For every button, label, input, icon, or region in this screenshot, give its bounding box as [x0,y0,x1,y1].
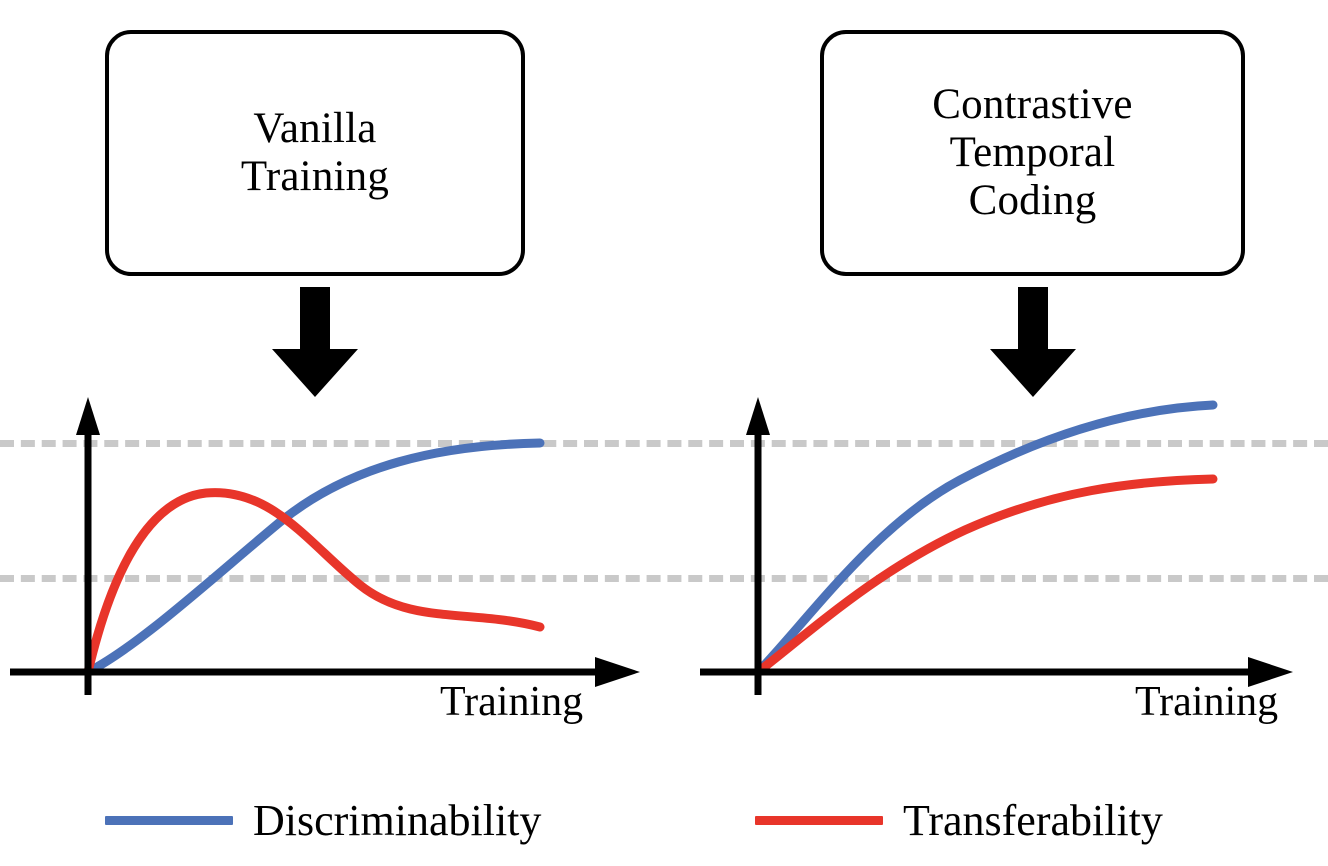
curve-discriminability-right [758,405,1213,672]
legend-swatch-transferability [755,816,883,825]
concept-box-vanilla-training: Vanilla Training [105,30,525,276]
legend-label-discriminability: Discriminability [253,795,541,846]
x-axis-caption-right: Training [1135,678,1278,726]
concept-box-contrastive-temporal-coding-label: Contrastive Temporal Coding [932,81,1132,225]
concept-box-contrastive-temporal-coding: Contrastive Temporal Coding [820,30,1245,276]
curve-transferability-right [758,479,1213,672]
y-axis-arrowhead-left [76,397,100,435]
figure-canvas: Vanilla Training Contrastive Temporal Co… [0,0,1328,866]
down-arrow-icon-right [990,287,1076,397]
legend-item-discriminability: Discriminability [105,795,541,846]
legend-item-transferability: Transferability [755,795,1163,846]
legend-label-transferability: Transferability [903,795,1163,846]
chart-contrastive-temporal-coding [700,395,1320,695]
legend-swatch-discriminability [105,816,233,825]
concept-box-vanilla-training-label: Vanilla Training [241,105,389,201]
curve-discriminability-left [88,443,540,672]
x-axis-arrowhead-left [595,657,640,687]
y-axis-arrowhead-right [746,397,770,435]
chart-vanilla-training [10,395,660,695]
x-axis-caption-left: Training [440,678,583,726]
curve-transferability-left [88,493,540,672]
down-arrow-icon-left [272,287,358,397]
